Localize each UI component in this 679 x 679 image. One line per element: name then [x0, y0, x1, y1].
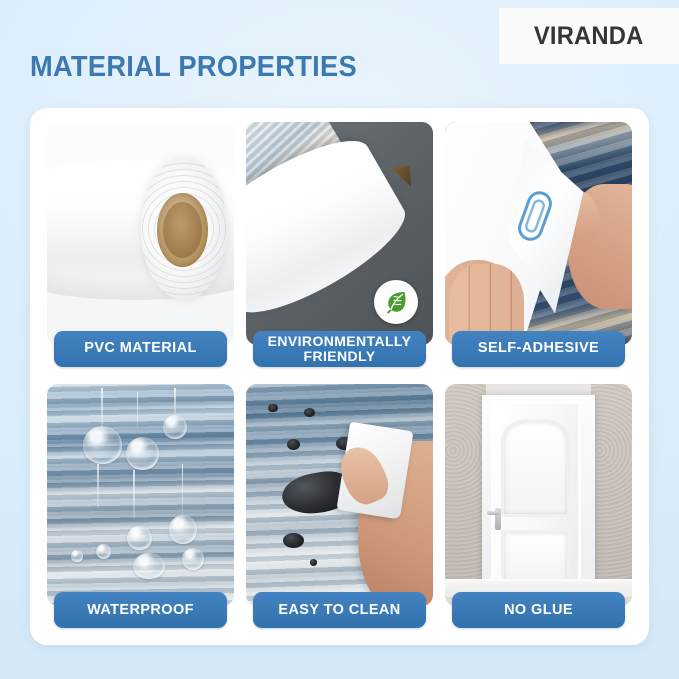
- feature-label-line-2: FRIENDLY: [304, 348, 376, 364]
- water-trail: [97, 464, 99, 509]
- pvc-roll-image: [47, 122, 234, 345]
- feature-card-environmentally-friendly: ENVIRONMENTALLY FRIENDLY: [246, 122, 433, 367]
- feature-card-pvc-material: PVC MATERIAL: [47, 122, 234, 367]
- brand-logo-box: VIRANDA: [499, 8, 679, 64]
- water-droplet: [96, 544, 111, 560]
- stain-spot: [268, 404, 277, 413]
- no-glue-door-image: [445, 384, 632, 607]
- stain-spot: [304, 408, 315, 417]
- water-droplet: [126, 437, 160, 470]
- water-droplet: [127, 526, 151, 550]
- feature-label-no-glue: NO GLUE: [452, 592, 625, 628]
- wall-right: [591, 384, 632, 607]
- wall-left: [445, 384, 486, 607]
- feature-card-no-glue: NO GLUE: [445, 384, 632, 629]
- water-trail: [182, 464, 184, 517]
- feature-grid: PVC MATERIAL ENVIRONMENTALLY: [47, 122, 632, 628]
- water-droplet: [169, 515, 197, 544]
- feature-card-waterproof: WATERPROOF: [47, 384, 234, 629]
- easy-to-clean-image: [246, 384, 433, 607]
- water-trail: [137, 392, 139, 428]
- water-droplet: [182, 548, 204, 570]
- feature-card-self-adhesive: SELF-ADHESIVE: [445, 122, 632, 367]
- eco-roll-image: [246, 122, 433, 345]
- eco-badge: [374, 280, 418, 324]
- brand-logo-text: VIRANDA: [534, 22, 644, 51]
- door-handle: [495, 508, 502, 530]
- stain-spot: [310, 559, 317, 566]
- door-panel-top: [501, 419, 570, 517]
- feature-label-easy-to-clean: EASY TO CLEAN: [253, 592, 426, 628]
- feature-label-line-1: ENVIRONMENTALLY: [268, 333, 412, 349]
- water-droplet: [83, 426, 122, 464]
- stain-spot: [287, 439, 300, 450]
- water-trail: [133, 470, 135, 519]
- stain-spot: [283, 533, 304, 549]
- rolled-sheet-tip: [390, 162, 415, 191]
- self-adhesive-image: [445, 122, 632, 345]
- page-title: MATERIAL PROPERTIES: [30, 51, 357, 84]
- water-droplet: [163, 415, 187, 439]
- feature-label-waterproof: WATERPROOF: [54, 592, 227, 628]
- feature-card-easy-to-clean: EASY TO CLEAN: [246, 384, 433, 629]
- leaf-icon: [383, 289, 409, 315]
- water-droplet: [71, 550, 82, 561]
- feature-label-self-adhesive: SELF-ADHESIVE: [452, 331, 625, 367]
- feature-label-pvc-material: PVC MATERIAL: [54, 331, 227, 367]
- waterproof-image: [47, 384, 234, 607]
- feature-panel: PVC MATERIAL ENVIRONMENTALLY: [30, 108, 649, 645]
- water-droplet: [133, 553, 165, 580]
- roll-core-hole: [163, 202, 202, 258]
- feature-label-environmentally-friendly: ENVIRONMENTALLY FRIENDLY: [253, 331, 426, 367]
